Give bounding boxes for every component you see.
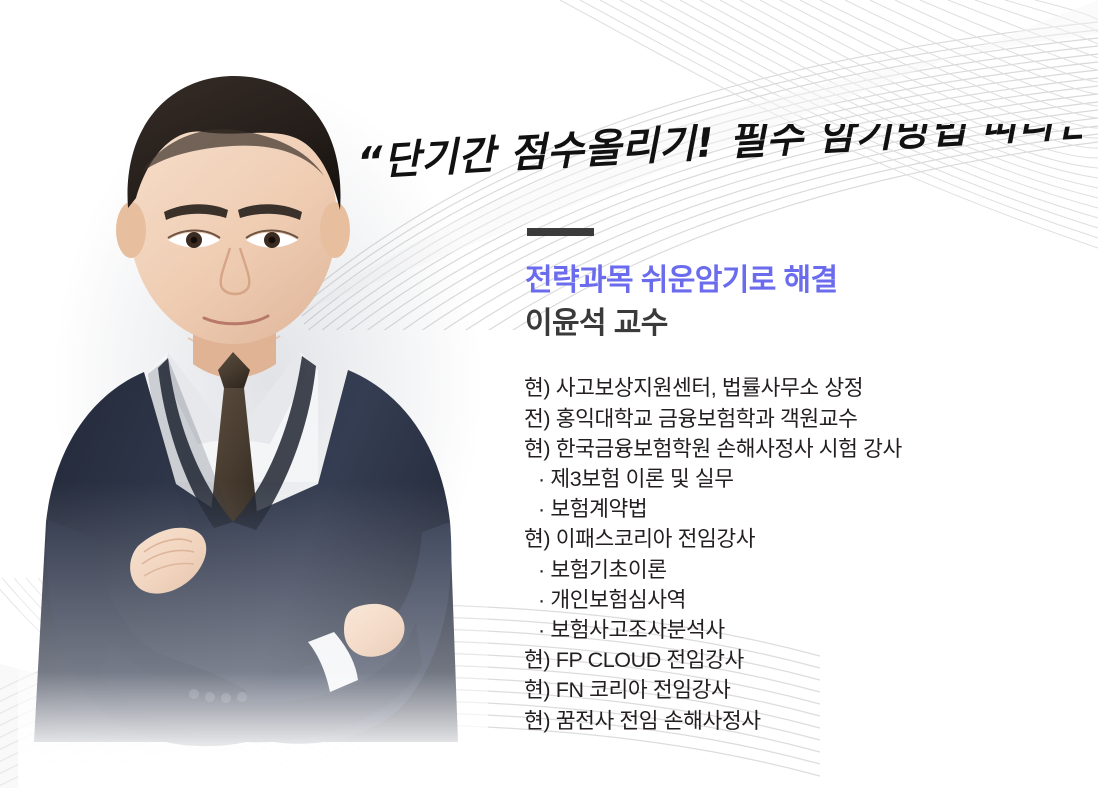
- list-item: · 보험기초이론: [524, 555, 1064, 585]
- list-item: · 개인보험심사역: [524, 585, 1064, 615]
- list-item: 현) 꿈전사 전임 손해사정사: [524, 706, 1064, 736]
- list-item: · 제3보험 이론 및 실무: [524, 464, 1064, 494]
- instructor-promo-poster: “단기간 점수올리기! 필수 암기방법 따라만 오세요” 전략과목 쉬운암기로 …: [0, 0, 1098, 788]
- credentials-list: 현) 사고보상지원센터, 법률사무소 상정 전) 홍익대학교 금융보험학과 객원…: [524, 373, 1064, 735]
- list-item: 현) FN 코리아 전임강사: [524, 675, 1064, 705]
- list-item: 현) 사고보상지원센터, 법률사무소 상정: [524, 373, 1064, 403]
- list-item: · 보험사고조사분석사: [524, 615, 1064, 645]
- page-title: 전략과목 쉬운암기로 해결: [525, 262, 1064, 300]
- quote-text: “단기간 점수올리기! 필수 암기방법 따라만 오세요”: [356, 124, 1082, 186]
- list-item: · 보험계약법: [524, 494, 1064, 524]
- list-item: 현) FP CLOUD 전임강사: [524, 645, 1064, 675]
- handwritten-quote-svg: “단기간 점수올리기! 필수 암기방법 따라만 오세요”: [352, 124, 1082, 204]
- list-item: 전) 홍익대학교 금융보험학과 객원교수: [524, 404, 1064, 434]
- instructor-name: 이윤석 교수: [525, 304, 1064, 343]
- handwritten-quote: “단기간 점수올리기! 필수 암기방법 따라만 오세요”: [352, 124, 1082, 204]
- accent-bar: [527, 228, 594, 236]
- list-item: 현) 이패스코리아 전임강사: [524, 524, 1064, 554]
- list-item: 현) 한국금융보험학원 손해사정사 시험 강사: [524, 434, 1064, 464]
- info-column: 전략과목 쉬운암기로 해결 이윤석 교수 현) 사고보상지원센터, 법률사무소 …: [524, 228, 1064, 736]
